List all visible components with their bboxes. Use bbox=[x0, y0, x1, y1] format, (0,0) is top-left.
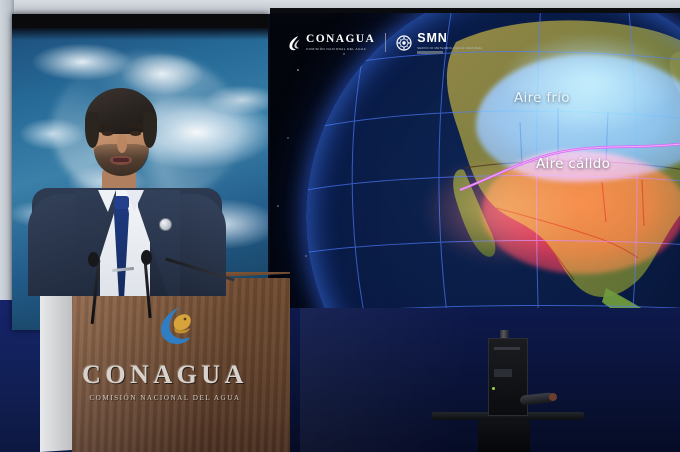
smn-logo-subtitle: SERVICIO METEOROLÓGICO NACIONAL bbox=[417, 47, 482, 50]
smn-logo-name: SMN bbox=[417, 32, 482, 45]
water-drop-icon bbox=[288, 35, 301, 51]
presenter-hair-left bbox=[85, 112, 99, 148]
podium-subtitle-text: COMISIÓN NACIONAL DEL AGUA bbox=[40, 394, 290, 402]
equipment-box-panel bbox=[494, 369, 512, 377]
logo-divider bbox=[385, 33, 386, 52]
podium-microphone-right-head bbox=[141, 250, 152, 265]
conagua-eagle-wave-icon bbox=[152, 304, 196, 348]
smn-seal-icon bbox=[396, 35, 412, 51]
presenter bbox=[28, 72, 226, 294]
presenter-tie-knot bbox=[114, 196, 129, 209]
globe-forecast-screen: Aire frío Aire cálido CONAGUA COMISIÓN N… bbox=[270, 8, 680, 308]
presenter-eye-right bbox=[130, 131, 141, 136]
podium-microphone-left-head bbox=[88, 252, 99, 267]
equipment-box-vent bbox=[494, 347, 520, 350]
podium-name-text: CONAGUA bbox=[40, 360, 290, 390]
smn-logo-text: SMN SERVICIO METEOROLÓGICO NACIONAL bbox=[417, 32, 482, 54]
presenter-mouth-interior bbox=[113, 158, 129, 162]
presenter-nose bbox=[117, 134, 127, 153]
presenter-hair-right bbox=[143, 112, 157, 148]
tv-screen-surface: Aire frío Aire cálido CONAGUA COMISIÓN N… bbox=[270, 18, 680, 308]
equipment-box-led bbox=[492, 387, 495, 390]
screen-header-logos: CONAGUA COMISIÓN NACIONAL DEL AGUA SMN bbox=[288, 32, 483, 54]
screenshot-root: Aire frío Aire cálido CONAGUA COMISIÓN N… bbox=[0, 0, 680, 452]
conagua-logo-name: CONAGUA bbox=[306, 34, 375, 46]
conagua-logo-text: CONAGUA COMISIÓN NACIONAL DEL AGUA bbox=[306, 34, 375, 51]
presenter-lapel-pin bbox=[159, 218, 172, 231]
conagua-logo-subtitle: COMISIÓN NACIONAL DEL AGUA bbox=[306, 48, 375, 51]
left-screen-bezel bbox=[12, 14, 268, 28]
smn-logo-bar bbox=[417, 51, 443, 54]
conagua-logo: CONAGUA COMISIÓN NACIONAL DEL AGUA bbox=[288, 34, 375, 51]
presenter-eye-left bbox=[102, 131, 113, 136]
stand-microphone-tip bbox=[549, 393, 557, 401]
podium: CONAGUA COMISIÓN NACIONAL DEL AGUA bbox=[40, 272, 290, 452]
smn-logo: SMN SERVICIO METEOROLÓGICO NACIONAL bbox=[396, 32, 482, 54]
stand-base bbox=[478, 420, 530, 452]
